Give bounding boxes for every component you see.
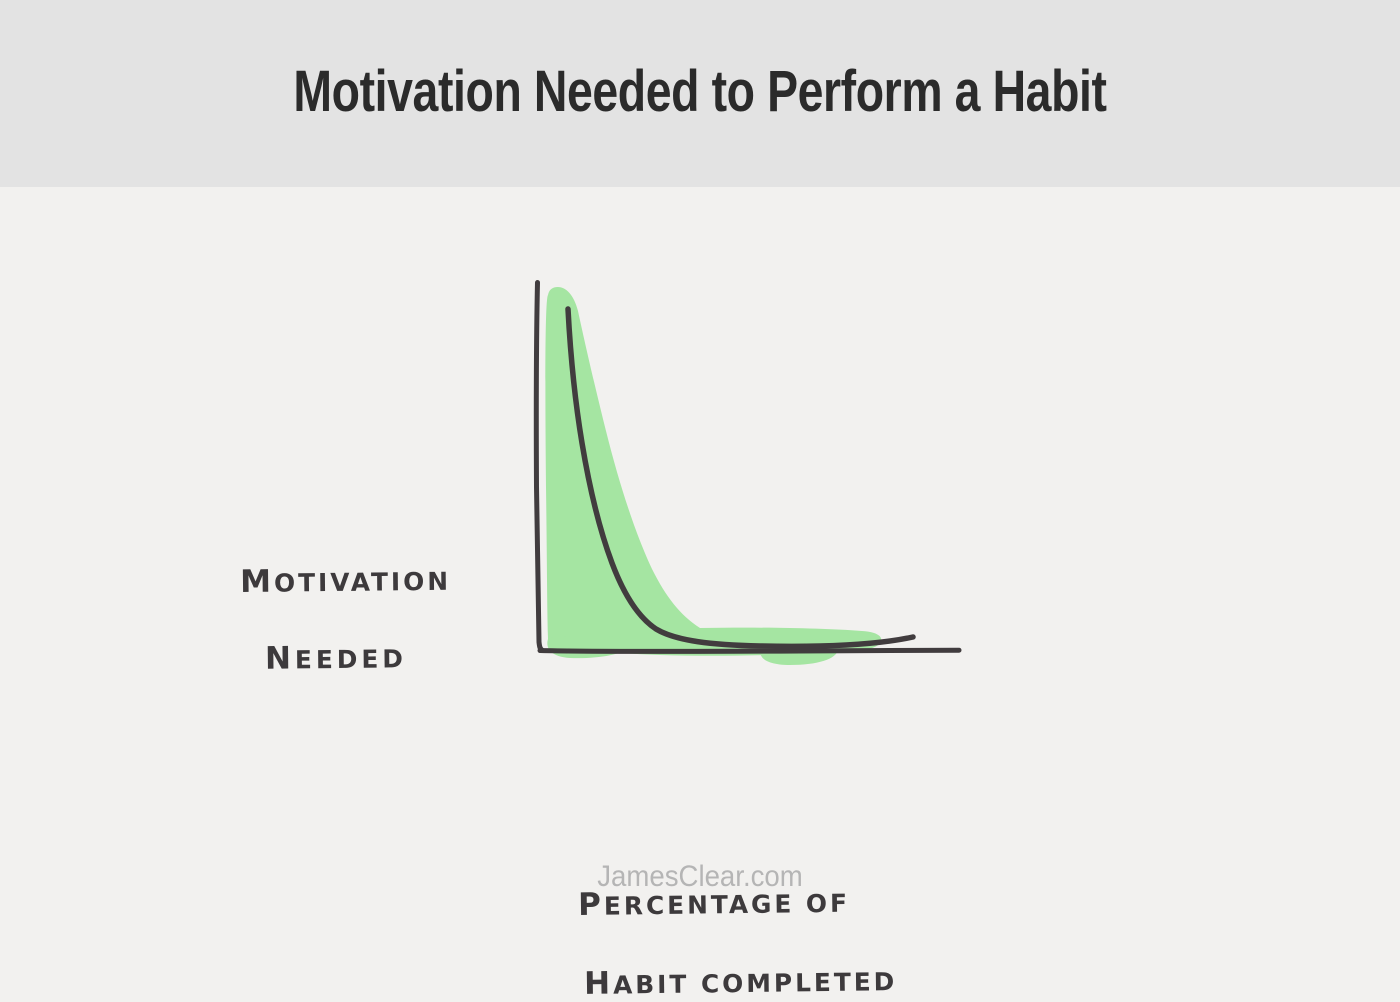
- decay-curve-chart: [0, 187, 1400, 933]
- y-axis-label: MOTIVATION NEEDED: [240, 565, 452, 675]
- x-axis-label: PERCENTAGE OF HABIT COMPLETED: [578, 886, 897, 1000]
- page-title: Motivation Needed to Perform a Habit: [140, 0, 1260, 187]
- y-axis-line: [536, 283, 542, 651]
- area-fill-group: [545, 287, 881, 665]
- y-axis-label-line2: NEEDED: [265, 642, 452, 675]
- attribution-text: JamesClear.com: [56, 860, 1344, 894]
- x-axis-line: [540, 650, 959, 651]
- area-fill-under-curve: [545, 287, 881, 656]
- area-fill-spill-left: [547, 636, 631, 658]
- y-axis-label-line1: MOTIVATION: [240, 565, 451, 598]
- chart-area: MOTIVATION NEEDED PERCENTAGE OF HABIT CO…: [0, 187, 1400, 933]
- x-axis-label-line2: HABIT COMPLETED: [584, 965, 897, 1000]
- infographic-canvas: Motivation Needed to Perform a Habit MO: [0, 0, 1400, 933]
- header-band: Motivation Needed to Perform a Habit: [0, 0, 1400, 187]
